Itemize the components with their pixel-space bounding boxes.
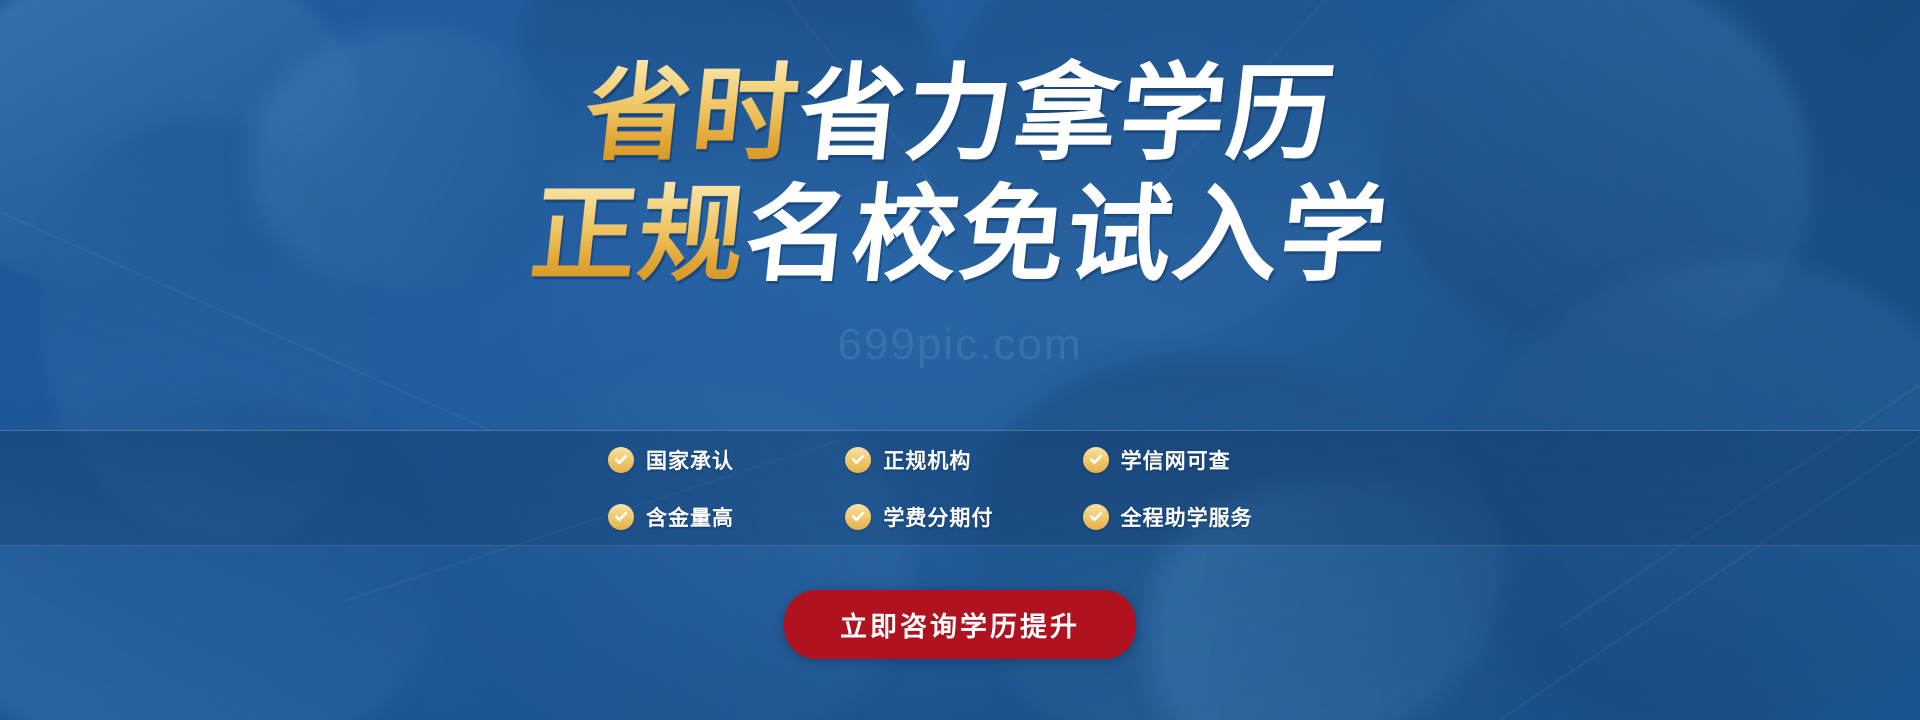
check-circle-icon bbox=[608, 504, 634, 530]
headline-line-1-highlight: 省时 bbox=[579, 53, 806, 175]
feature-label: 含金量高 bbox=[646, 502, 734, 532]
cta-container: 立即咨询学历提升 bbox=[0, 590, 1920, 659]
headline-line-1-rest: 省力拿学历 bbox=[793, 53, 1341, 175]
feature-label: 国家承认 bbox=[646, 445, 734, 475]
consult-now-button[interactable]: 立即咨询学历提升 bbox=[784, 590, 1136, 659]
feature-item-3: 含金量高 bbox=[608, 502, 845, 532]
feature-item-2: 学信网可查 bbox=[1083, 445, 1320, 475]
feature-label: 全程助学服务 bbox=[1121, 502, 1253, 532]
feature-item-4: 学费分期付 bbox=[845, 502, 1082, 532]
feature-item-5: 全程助学服务 bbox=[1083, 502, 1320, 532]
check-circle-icon bbox=[1083, 447, 1109, 473]
headline-line-2-rest: 名校免试入学 bbox=[740, 174, 1395, 296]
check-circle-icon bbox=[845, 504, 871, 530]
headline-line-2: 正规名校免试入学 bbox=[0, 183, 1920, 288]
feature-label: 学费分期付 bbox=[883, 502, 993, 532]
feature-band: 国家承认 正规机构 学信网可查 含金量高 bbox=[0, 430, 1920, 546]
feature-label: 正规机构 bbox=[883, 445, 971, 475]
feature-item-0: 国家承认 bbox=[608, 445, 845, 475]
check-circle-icon bbox=[845, 447, 871, 473]
check-circle-icon bbox=[608, 447, 634, 473]
promo-banner: 699pic.com 省时省力拿学历 正规名校免试入学 国家承认 正规机构 bbox=[0, 0, 1920, 720]
headline-line-2-highlight: 正规 bbox=[526, 174, 753, 296]
feature-item-1: 正规机构 bbox=[845, 445, 1082, 475]
feature-label: 学信网可查 bbox=[1121, 445, 1231, 475]
check-circle-icon bbox=[1083, 504, 1109, 530]
headline-line-1: 省时省力拿学历 bbox=[0, 62, 1920, 167]
headline: 省时省力拿学历 正规名校免试入学 bbox=[0, 62, 1920, 288]
